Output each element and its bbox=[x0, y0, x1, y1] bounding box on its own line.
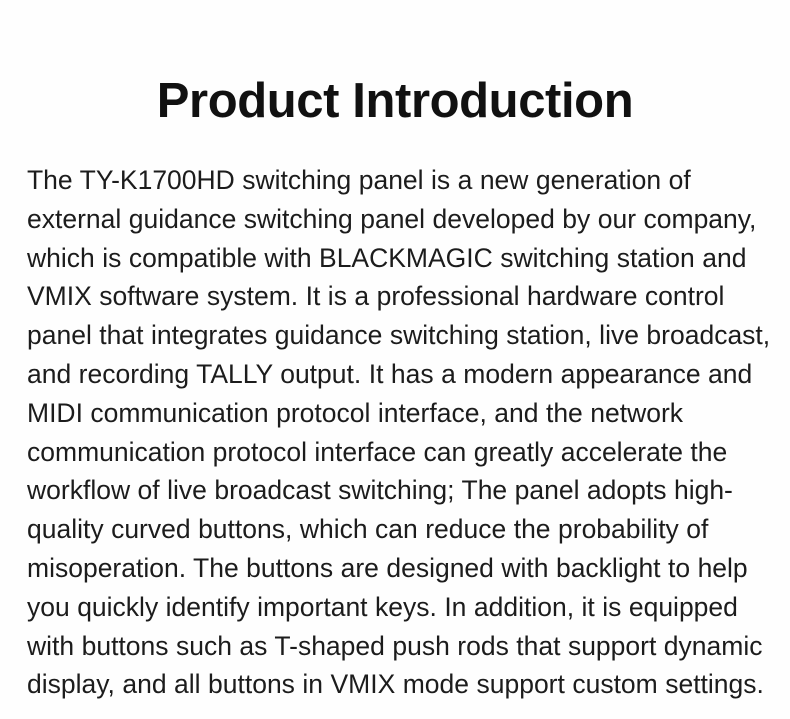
product-description-block: The TY-K1700HD switching panel is a new … bbox=[27, 161, 779, 704]
page-title: Product Introduction bbox=[0, 77, 790, 126]
product-description-paragraph: The TY-K1700HD switching panel is a new … bbox=[27, 161, 779, 704]
product-introduction-page: Product Introduction The TY-K1700HD swit… bbox=[0, 0, 790, 719]
